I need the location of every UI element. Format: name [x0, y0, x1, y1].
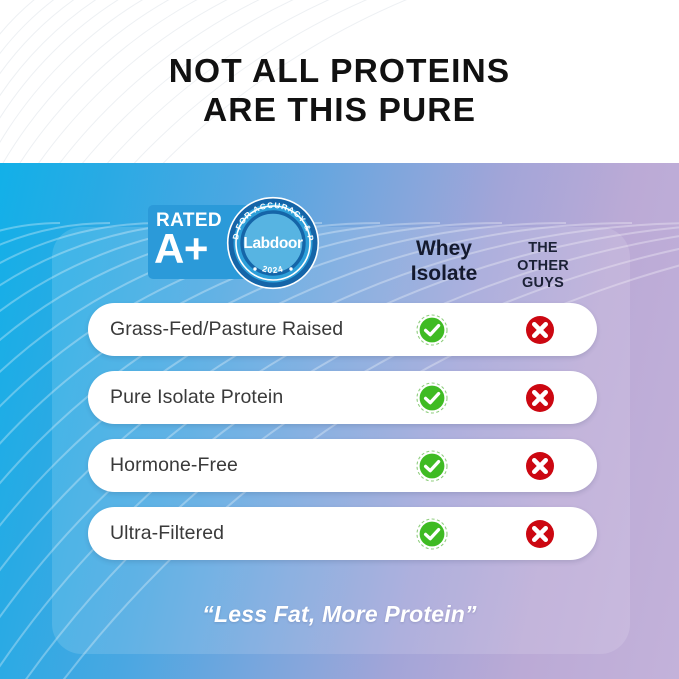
- cell-whey-isolate: [416, 450, 448, 482]
- cell-whey-isolate: [416, 518, 448, 550]
- comparison-rows: Grass-Fed/Pasture RaisedPure Isolate Pro…: [88, 303, 597, 575]
- labdoor-seal-icon: TESTED FOR ACCURACY & PURITY 2024 Labdoo…: [226, 196, 320, 290]
- header-section: NOT ALL PROTEINS ARE THIS PURE: [0, 0, 679, 163]
- table-row[interactable]: Ultra-Filtered: [88, 507, 597, 560]
- column-header-whey-line2: Isolate: [385, 261, 503, 286]
- cross-circle-icon: [525, 383, 555, 413]
- row-feature-label: Pure Isolate Protein: [110, 371, 283, 424]
- check-circle-icon: [416, 314, 448, 346]
- seal-brand: Labdoor: [243, 235, 303, 252]
- cell-other-guys: [525, 315, 555, 345]
- table-row[interactable]: Pure Isolate Protein: [88, 371, 597, 424]
- column-header-other-line3: GUYS: [497, 275, 589, 293]
- page-title: NOT ALL PROTEINS ARE THIS PURE: [0, 52, 679, 130]
- cross-circle-icon: [525, 315, 555, 345]
- cell-whey-isolate: [416, 314, 448, 346]
- check-circle-icon: [416, 518, 448, 550]
- row-feature-label: Grass-Fed/Pasture Raised: [110, 303, 343, 356]
- page-title-line1: NOT ALL PROTEINS: [169, 53, 510, 90]
- row-feature-label: Ultra-Filtered: [110, 507, 224, 560]
- page-title-line2: ARE THIS PURE: [0, 91, 679, 130]
- cross-circle-icon: [525, 519, 555, 549]
- table-row[interactable]: Grass-Fed/Pasture Raised: [88, 303, 597, 356]
- cell-other-guys: [525, 451, 555, 481]
- table-row[interactable]: Hormone-Free: [88, 439, 597, 492]
- check-circle-icon: [416, 382, 448, 414]
- row-feature-label: Hormone-Free: [110, 439, 238, 492]
- column-header-whey-line1: Whey: [385, 236, 503, 261]
- column-header-whey-isolate: Whey Isolate: [385, 236, 503, 286]
- column-header-other-line2: OTHER: [497, 258, 589, 276]
- rated-grade: A+: [154, 225, 208, 273]
- infographic-canvas: NOT ALL PROTEINS ARE THIS PURE: [0, 0, 679, 679]
- check-circle-icon: [416, 450, 448, 482]
- rating-badge: RATED A+ TESTED FOR ACCURACY & PURITY 20…: [148, 196, 320, 290]
- tagline: “Less Fat, More Protein”: [0, 601, 679, 628]
- cell-other-guys: [525, 519, 555, 549]
- cell-other-guys: [525, 383, 555, 413]
- cross-circle-icon: [525, 451, 555, 481]
- cell-whey-isolate: [416, 382, 448, 414]
- column-header-other-line1: THE: [497, 240, 589, 258]
- column-header-other-guys: THE OTHER GUYS: [497, 240, 589, 293]
